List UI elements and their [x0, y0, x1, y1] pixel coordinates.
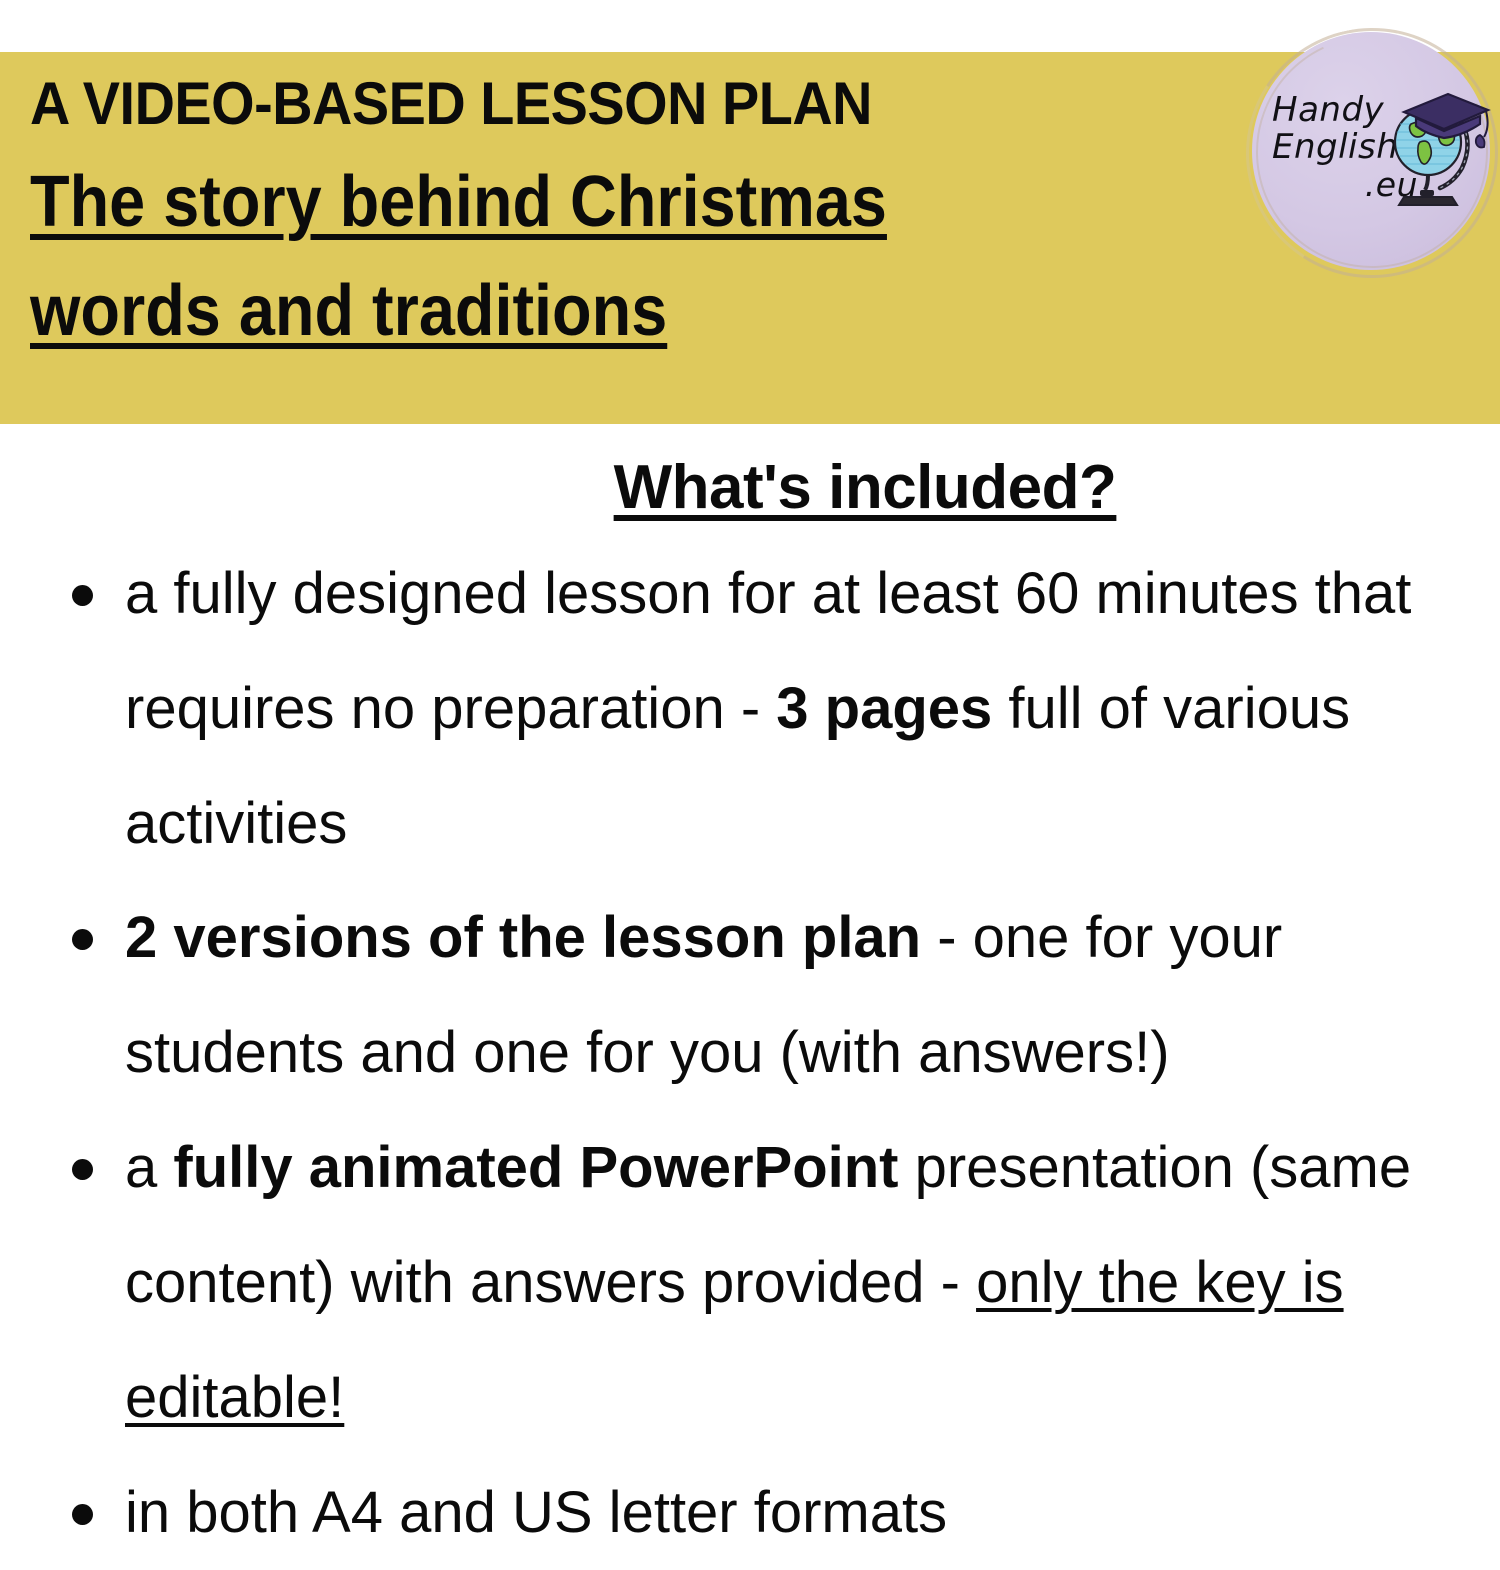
bullet-dot-icon	[72, 929, 93, 950]
included-items-list: a fully designed lesson for at least 60 …	[0, 537, 1500, 1570]
list-item-text: in both A4 and US letter formats	[125, 1480, 947, 1545]
bullet-dot-icon	[72, 1159, 93, 1180]
page-title: The story behind Christmas words and tra…	[30, 148, 1092, 367]
logo-wordmark-line-1: Handy	[1272, 90, 1384, 130]
main-content: What's included? a fully designed lesson…	[0, 424, 1500, 1570]
list-item: a fully designed lesson for at least 60 …	[0, 537, 1500, 881]
list-item: 2 versions of the lesson plan - one for …	[0, 881, 1500, 1111]
bullet-dot-icon	[72, 1504, 93, 1525]
brand-logo: Handy English .eu	[1246, 26, 1496, 276]
globe-with-graduation-cap-icon	[1376, 80, 1494, 210]
title-block: A VIDEO-BASED LESSON PLAN The story behi…	[30, 74, 1110, 367]
page-title-line-2: words and traditions	[30, 271, 667, 351]
section-heading: What's included?	[0, 424, 1500, 523]
list-item: a fully animated PowerPoint presentation…	[0, 1111, 1500, 1455]
kicker-title: A VIDEO-BASED LESSON PLAN	[30, 74, 1034, 134]
list-item-text: a fully animated PowerPoint presentation…	[125, 1135, 1411, 1430]
section-heading-text: What's included?	[614, 453, 1117, 522]
list-item-text: 2 versions of the lesson plan - one for …	[125, 905, 1282, 1085]
bullet-dot-icon	[72, 585, 93, 606]
list-item: in both A4 and US letter formats	[0, 1456, 1500, 1570]
page-title-line-1: The story behind Christmas	[30, 162, 887, 242]
list-item-text: a fully designed lesson for at least 60 …	[125, 561, 1411, 856]
